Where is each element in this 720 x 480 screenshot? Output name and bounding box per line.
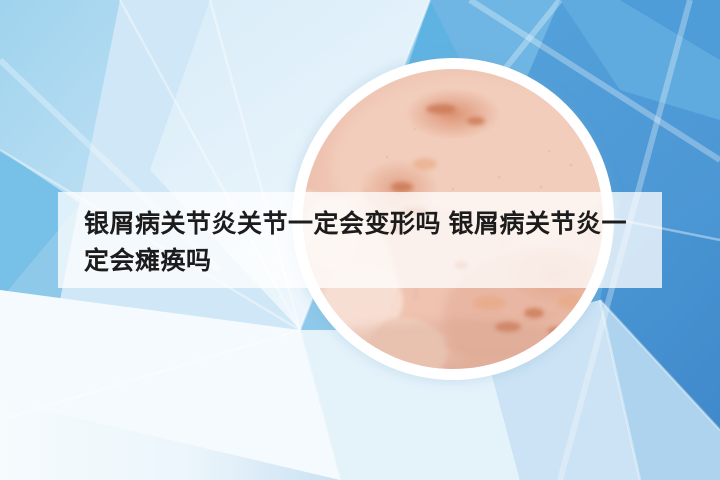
title-banner-band: 银屑病关节炎关节一定会变形吗 银屑病关节炎一定会瘫痪吗: [58, 192, 662, 288]
article-header-banner: 银屑病关节炎关节一定会变形吗 银屑病关节炎一定会瘫痪吗: [0, 0, 720, 480]
page-title: 银屑病关节炎关节一定会变形吗 银屑病关节炎一定会瘫痪吗: [84, 206, 636, 280]
